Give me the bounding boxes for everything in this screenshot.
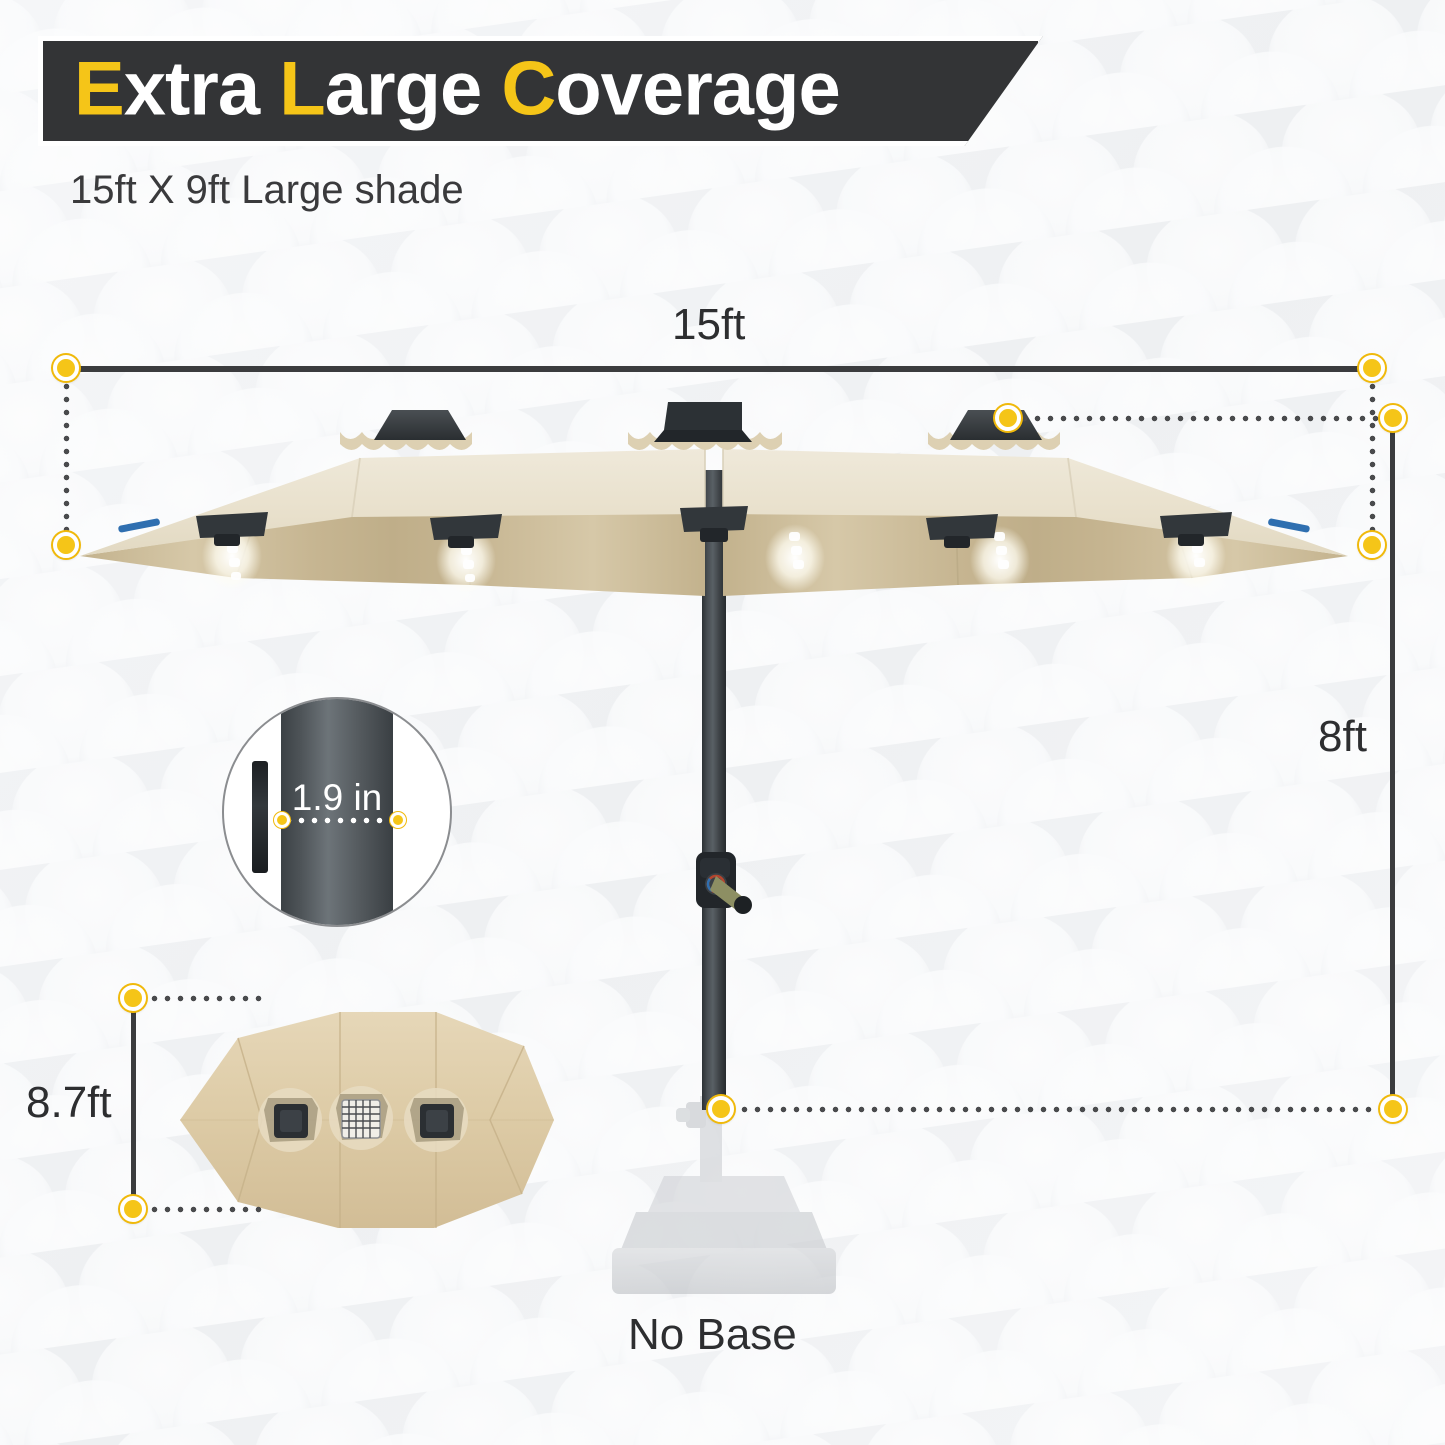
dotted-line-depth-top — [148, 995, 264, 1002]
marker-depth-top — [120, 985, 146, 1011]
marker-pole-left — [274, 812, 290, 828]
marker-canopy-left — [53, 532, 79, 558]
dotted-line-canopy-to-axis — [1018, 415, 1388, 422]
dimension-label-width: 15ft — [672, 300, 745, 350]
depth-measure-line — [131, 1005, 136, 1210]
umbrella-pole — [702, 470, 726, 1110]
dotted-line-base-to-axis — [738, 1106, 1386, 1113]
pole-diameter-magnifier: 1.9 in — [222, 697, 452, 927]
dotted-drop-right — [1369, 380, 1376, 545]
dimension-label-height: 8ft — [1318, 712, 1367, 762]
canopy-hub-left — [258, 1088, 322, 1152]
dimension-label-depth: 8.7ft — [26, 1078, 112, 1128]
canopy-hub-right — [404, 1088, 468, 1152]
pole-diameter-label: 1.9 in — [292, 777, 383, 819]
height-measure-line — [1390, 430, 1395, 1116]
marker-width-left — [53, 355, 79, 381]
marker-height-bottom — [1380, 1096, 1406, 1122]
pole-clip — [252, 761, 268, 873]
dotted-drop-left — [63, 380, 70, 545]
dotted-line-depth-bottom — [148, 1206, 264, 1213]
solar-panel-hub — [329, 1086, 393, 1150]
marker-height-top — [1380, 405, 1406, 431]
marker-pole-right — [390, 812, 406, 828]
canopy-top-view — [150, 990, 570, 1260]
marker-depth-bottom — [120, 1196, 146, 1222]
marker-base-point — [708, 1096, 734, 1122]
crank-handle — [696, 852, 752, 914]
umbrella-base-ghost — [612, 1096, 836, 1294]
marker-width-right — [1359, 355, 1385, 381]
marker-canopy-finial — [995, 405, 1021, 431]
no-base-label: No Base — [628, 1310, 797, 1360]
canopy-finials — [374, 402, 1042, 442]
marker-canopy-right — [1359, 532, 1385, 558]
width-measure-line — [66, 366, 1372, 372]
